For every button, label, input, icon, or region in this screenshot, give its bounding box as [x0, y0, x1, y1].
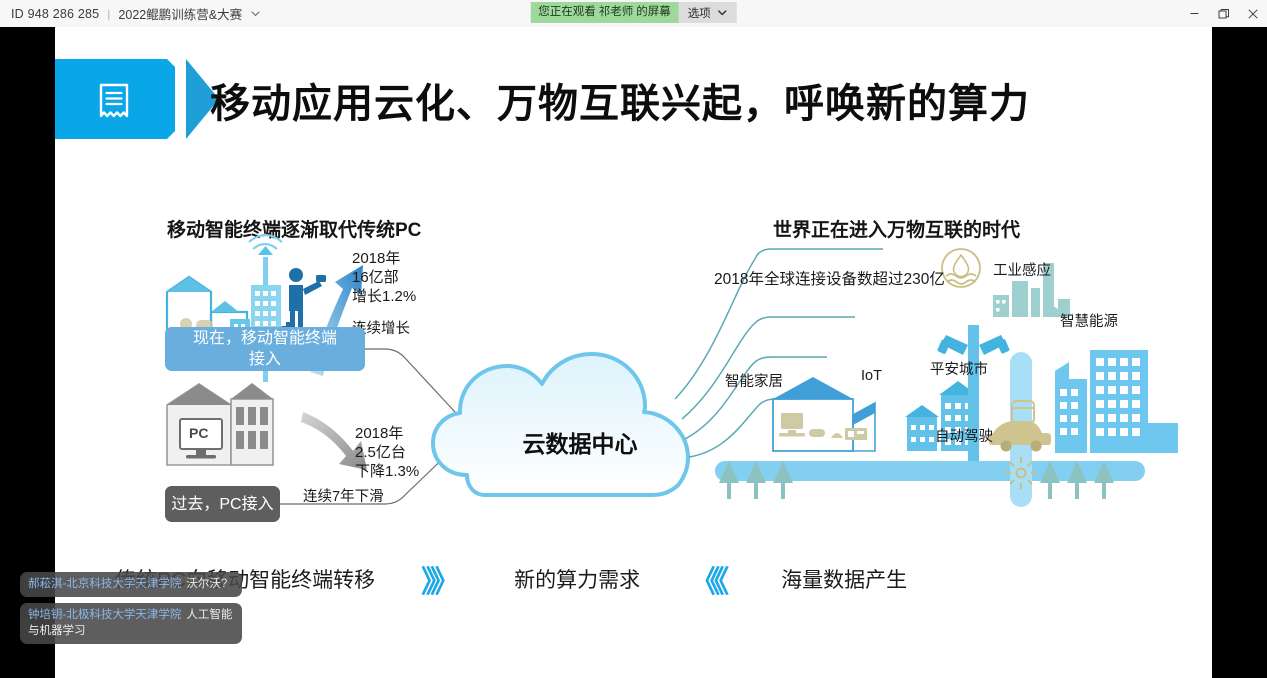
chat-sender: 郝菘淇-北京科技大学天津学院: [28, 578, 181, 590]
screen-share-window: ID 948 286 285 | 2022鲲鹏训练营&大赛 您正在观看 祁老师 …: [0, 0, 1267, 678]
mobile-access-pill: 现在，移动智能终端 接入: [165, 327, 365, 371]
arrow-left-icon: 《《: [690, 557, 723, 601]
summary-item-2: 新的算力需求: [514, 564, 640, 594]
slide-banner: [55, 59, 207, 139]
arrow-right-icon: 》》: [421, 557, 454, 601]
titlebar-separator: |: [107, 7, 110, 21]
shared-screen-stage: 移动应用云化、万物互联兴起，呼唤新的算力 移动智能终端逐渐取代传统PC 世界正在…: [0, 27, 1267, 678]
label-safe-city: 平安城市: [930, 358, 988, 379]
options-button[interactable]: 选项: [679, 2, 737, 23]
connected-devices-stat: 2018年全球连接设备数超过230亿: [714, 267, 945, 289]
chevron-down-icon: [717, 7, 728, 18]
sharing-suffix-label: 的屏幕: [636, 5, 671, 19]
chevron-down-icon[interactable]: [250, 8, 261, 19]
pc-stat-callout: 2018年 2.5亿台 下降1.3%: [355, 424, 419, 481]
window-controls: [1180, 0, 1267, 27]
label-iot: IoT: [861, 368, 882, 384]
chat-message: 钟培钥-北极科技大学天津学院人工智能与机器学习: [20, 603, 242, 644]
bottom-summary-row: 传统PC向移动智能终端转移 》》 新的算力需求 《《 海量数据产生: [115, 555, 1155, 603]
label-smart-energy: 智慧能源: [1060, 310, 1118, 331]
label-autonomous-driving: 自动驾驶: [935, 425, 993, 446]
screen-share-banner: 您正在观看 祁老师 的屏幕 选项: [530, 2, 737, 23]
pc-label: PC: [189, 425, 208, 441]
restore-icon[interactable]: [1209, 0, 1238, 27]
sharing-status-pill: 您正在观看 祁老师 的屏幕: [530, 2, 679, 23]
chat-sender: 钟培钥-北极科技大学天津学院: [28, 609, 181, 621]
sharing-presenter-name: 祁老师: [599, 5, 634, 19]
right-section-heading: 世界正在进入万物互联的时代: [773, 215, 1020, 242]
minimize-icon[interactable]: [1180, 0, 1209, 27]
options-button-label: 选项: [688, 5, 711, 21]
meeting-topic-label: 2022鲲鹏训练营&大赛: [118, 4, 242, 23]
document-receipt-icon: [91, 78, 137, 129]
mobile-stat-callout: 2018年 16亿部 增长1.2%: [352, 249, 416, 306]
close-icon[interactable]: [1238, 0, 1267, 27]
label-smart-home: 智能家居: [725, 370, 783, 391]
chat-message: 郝菘淇-北京科技大学天津学院沃尔沃?: [20, 572, 242, 597]
window-titlebar: ID 948 286 285 | 2022鲲鹏训练营&大赛 您正在观看 祁老师 …: [0, 0, 1267, 28]
slide-footer: 第3页 版权所有© 2022 华为技术有限公司: [55, 672, 1212, 678]
label-industrial-sensing: 工业感应: [993, 259, 1051, 280]
pc-trend-label: 连续7年下滑: [303, 485, 384, 506]
meeting-id-label: ID 948 286 285: [11, 7, 99, 21]
summary-item-3: 海量数据产生: [781, 564, 907, 594]
chat-text: 沃尔沃?: [186, 578, 227, 590]
pc-access-pill: 过去，PC接入: [165, 486, 280, 522]
sharing-prefix-label: 您正在观看: [538, 5, 596, 19]
left-section-heading: 移动智能终端逐渐取代传统PC: [167, 215, 421, 242]
chat-overlay: 郝菘淇-北京科技大学天津学院沃尔沃? 钟培钥-北极科技大学天津学院人工智能与机器…: [20, 572, 242, 650]
cloud-datacenter-label: 云数据中心: [480, 425, 680, 459]
titlebar-meeting-info: ID 948 286 285 | 2022鲲鹏训练营&大赛: [0, 4, 261, 23]
page-title: 移动应用云化、万物互联兴起，呼唤新的算力: [210, 69, 1170, 131]
